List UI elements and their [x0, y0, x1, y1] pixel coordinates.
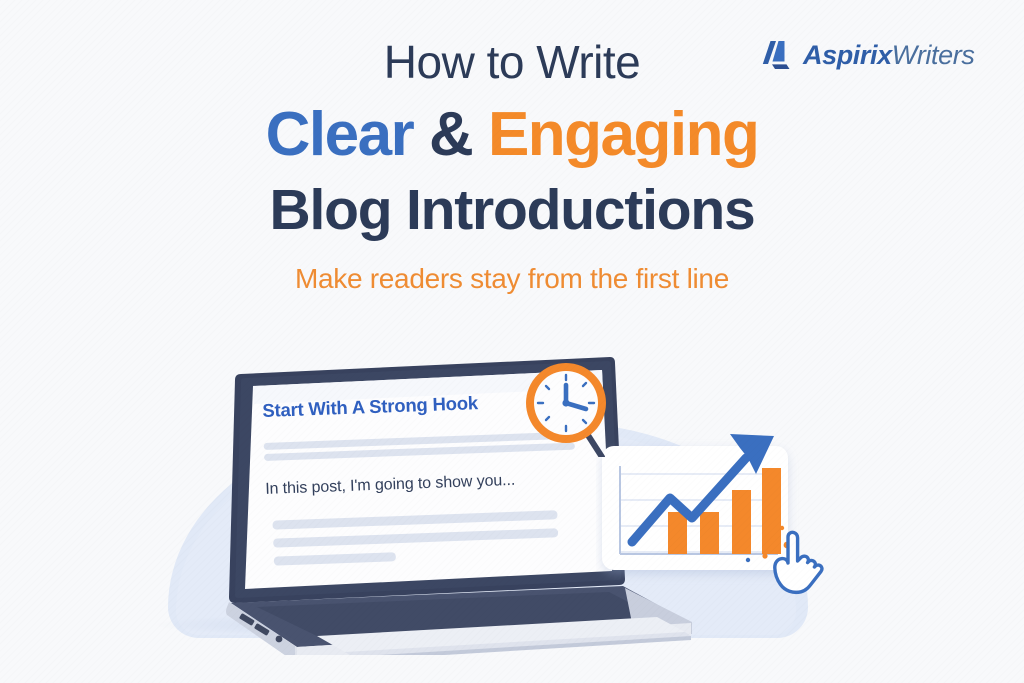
headline-line-3: Blog Introductions [0, 181, 1024, 241]
clock-icon [518, 357, 618, 457]
headline-word-clear: Clear [266, 100, 414, 169]
screen-placeholder-line [273, 528, 558, 547]
headline-line-1: How to Write [0, 38, 1024, 86]
headline-line-2: Clear & Engaging [0, 102, 1024, 167]
pointing-hand-cursor-icon [768, 530, 840, 608]
headline-ampersand: & [429, 100, 472, 169]
hero-subtitle: Make readers stay from the first line [0, 263, 1024, 295]
hero-text-block: How to Write Clear & Engaging Blog Intro… [0, 38, 1024, 295]
screen-placeholder-line [272, 510, 557, 529]
screen-body-text: In this post, I'm going to show you... [265, 469, 595, 499]
screen-placeholder-line [274, 552, 396, 565]
headline-word-engaging: Engaging [488, 100, 758, 169]
